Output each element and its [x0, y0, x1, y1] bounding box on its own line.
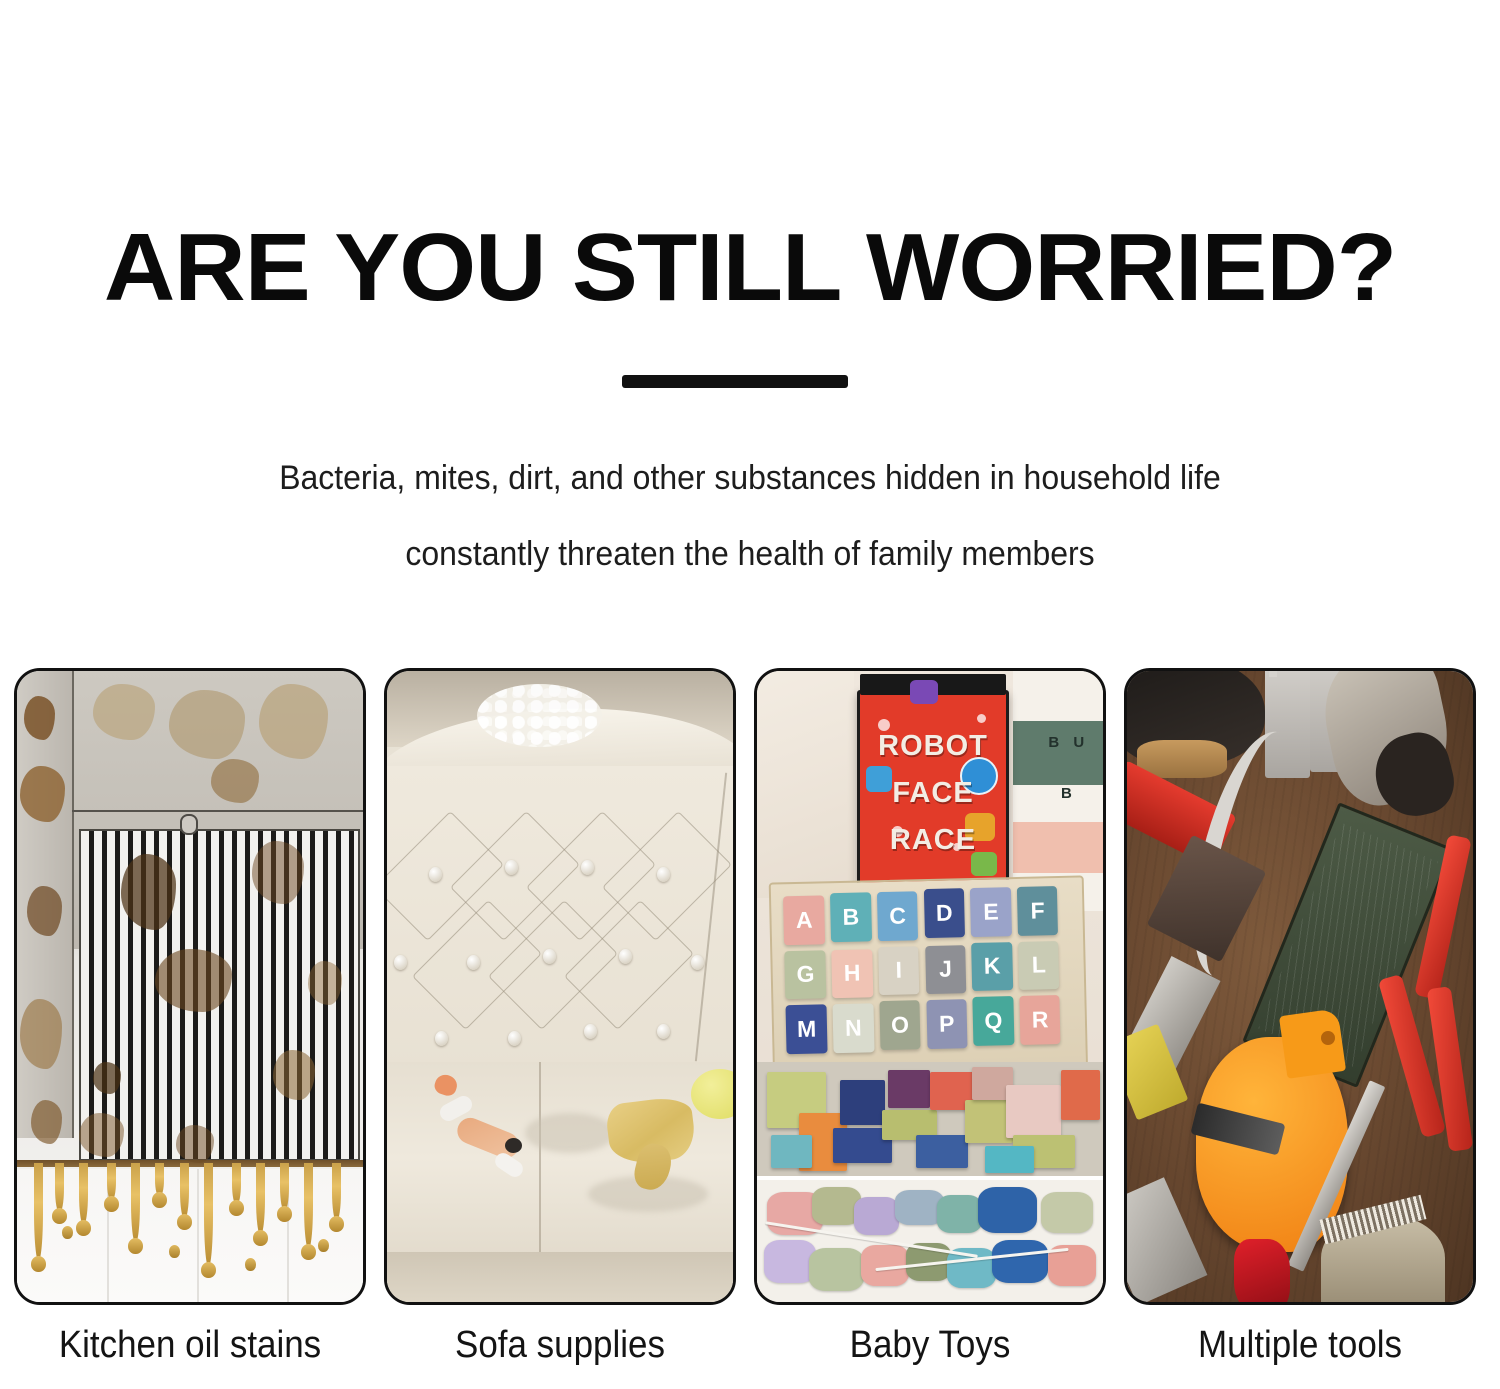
- hero-subtitle: Bacteria, mites, dirt, and other substan…: [45, 440, 1455, 592]
- puzzle-letter: O: [879, 1001, 921, 1050]
- puzzle-letter: M: [786, 1005, 828, 1054]
- kitchen-hood-photo: [17, 671, 363, 1302]
- poster-letter-b: B: [1061, 785, 1072, 802]
- caption-kitchen-oil-stains: Kitchen oil stains: [28, 1316, 352, 1376]
- puzzle-letter: G: [785, 950, 827, 999]
- baby-toys-photo: B U B ROBOT FACE RACE A B C: [757, 671, 1103, 1302]
- panel-sofa-supplies[interactable]: [384, 668, 736, 1305]
- caption-multiple-tools: Multiple tools: [1138, 1316, 1462, 1376]
- puzzle-letter: H: [831, 949, 873, 998]
- puzzle-letter: C: [877, 892, 919, 941]
- caption-sofa-supplies: Sofa supplies: [398, 1316, 722, 1376]
- puzzle-letter: F: [1017, 886, 1059, 935]
- image-panel-row: B U B ROBOT FACE RACE A B C: [0, 668, 1500, 1313]
- sofa-photo: [387, 671, 733, 1302]
- title-divider-rule: [622, 375, 848, 388]
- subtitle-line-1: Bacteria, mites, dirt, and other substan…: [45, 440, 1455, 516]
- puzzle-letter: I: [878, 946, 920, 995]
- poster-letters-bu: B U: [1048, 734, 1089, 751]
- box-title-line-2: FACE: [860, 779, 1005, 808]
- puzzle-letter: B: [830, 893, 872, 942]
- panel-baby-toys[interactable]: B U B ROBOT FACE RACE A B C: [754, 668, 1106, 1305]
- panel-multiple-tools[interactable]: [1124, 668, 1476, 1305]
- subtitle-line-2: constantly threaten the health of family…: [45, 516, 1455, 592]
- puzzle-letter: K: [971, 942, 1013, 991]
- puzzle-letter: P: [926, 999, 968, 1048]
- puzzle-letter: D: [923, 888, 965, 937]
- panel-kitchen-oil-stains[interactable]: [14, 668, 366, 1305]
- puzzle-letter: A: [783, 896, 825, 945]
- alphabet-puzzle-tray: A B C D E F G H I J K L M N O P Q R: [769, 876, 1089, 1089]
- box-title-line-3: RACE: [860, 826, 1005, 855]
- puzzle-letter: N: [832, 1004, 874, 1053]
- page-title: ARE YOU STILL WORRIED?: [0, 216, 1500, 320]
- puzzle-letter: J: [925, 945, 967, 994]
- panel-captions: Kitchen oil stains Sofa supplies Baby To…: [0, 1316, 1500, 1380]
- hero-section: ARE YOU STILL WORRIED? Bacteria, mites, …: [0, 0, 1500, 660]
- caption-baby-toys: Baby Toys: [768, 1316, 1092, 1376]
- box-title-line-1: ROBOT: [860, 732, 1005, 761]
- puzzle-letter: Q: [972, 996, 1014, 1045]
- puzzle-letter: L: [1018, 941, 1060, 990]
- puzzle-letter: R: [1019, 995, 1061, 1044]
- tools-photo: [1127, 671, 1473, 1302]
- puzzle-letter: E: [970, 887, 1012, 936]
